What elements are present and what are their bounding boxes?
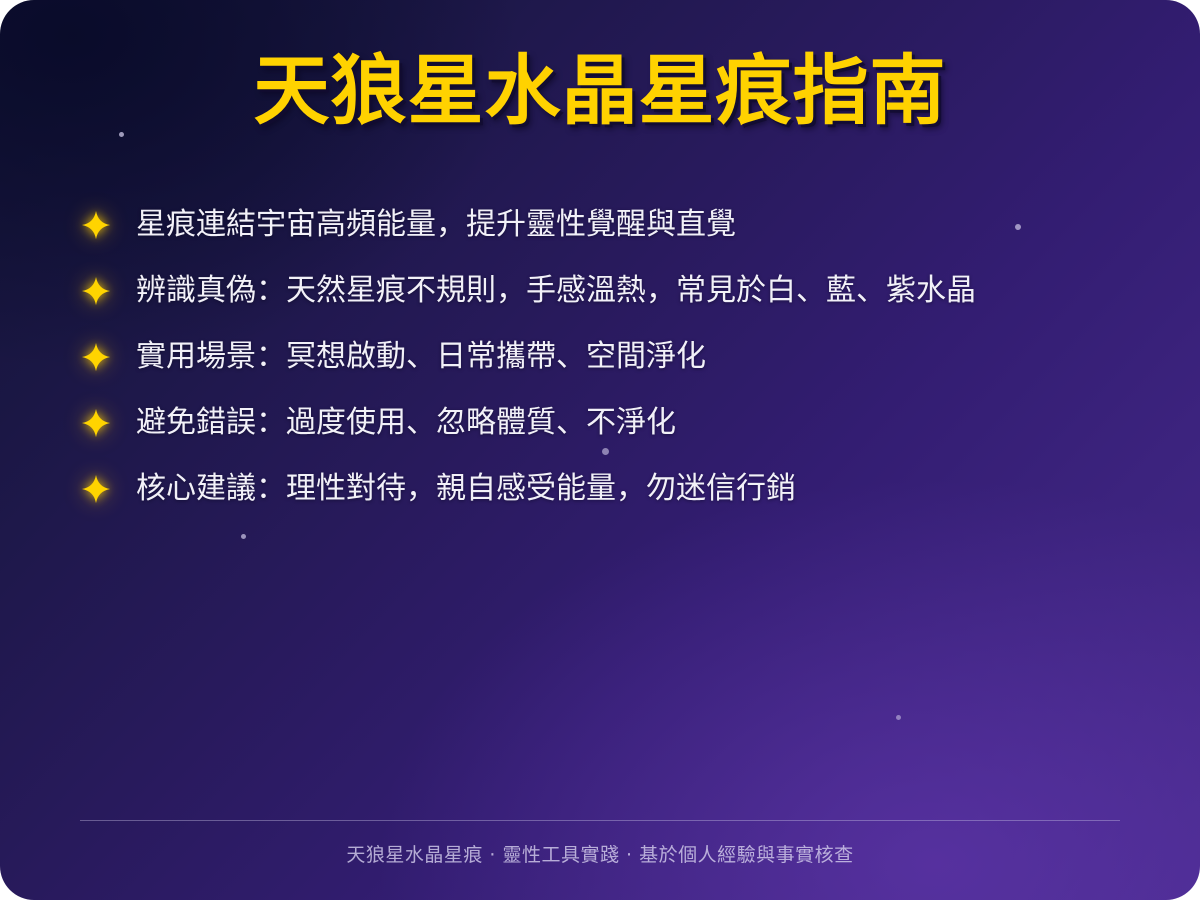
list-item-label: 星痕連結宇宙高頻能量，提升靈性覺醒與直覺 [136, 206, 736, 244]
page-title: 天狼星水晶星痕指南 [254, 48, 947, 133]
bullet-list: 星痕連結宇宙高頻能量，提升靈性覺醒與直覺辨識真偽：天然星痕不規則，手感溫熱，常見… [74, 192, 1140, 522]
list-item-label: 辨識真偽：天然星痕不規則，手感溫熱，常見於白、藍、紫水晶 [136, 272, 976, 310]
footer-note: 天狼星水晶星痕 · 靈性工具實踐 · 基於個人經驗與事實核查 [0, 840, 1200, 867]
sparkle-icon [74, 203, 118, 247]
list-item-label: 避免錯誤：過度使用、忽略體質、不淨化 [136, 404, 676, 442]
list-item-label: 核心建議：理性對待，親自感受能量，勿迷信行銷 [136, 470, 796, 508]
sparkle-icon [74, 467, 118, 511]
list-item: 實用場景：冥想啟動、日常攜帶、空間淨化 [74, 324, 1140, 390]
decorative-dot [241, 534, 246, 539]
list-item: 核心建議：理性對待，親自感受能量，勿迷信行銷 [74, 456, 1140, 522]
list-item: 星痕連結宇宙高頻能量，提升靈性覺醒與直覺 [74, 192, 1140, 258]
decorative-dot [896, 715, 901, 720]
sparkle-icon [74, 335, 118, 379]
footer-divider [80, 820, 1120, 821]
list-item-label: 實用場景：冥想啟動、日常攜帶、空間淨化 [136, 338, 706, 376]
sparkle-icon [74, 269, 118, 313]
sparkle-icon [74, 401, 118, 445]
list-item: 避免錯誤：過度使用、忽略體質、不淨化 [74, 390, 1140, 456]
list-item: 辨識真偽：天然星痕不規則，手感溫熱，常見於白、藍、紫水晶 [74, 258, 1140, 324]
presentation-slide: 天狼星水晶星痕指南 星痕連結宇宙高頻能量，提升靈性覺醒與直覺辨識真偽：天然星痕不… [0, 0, 1200, 900]
title-block: 天狼星水晶星痕指南 [0, 48, 1200, 133]
